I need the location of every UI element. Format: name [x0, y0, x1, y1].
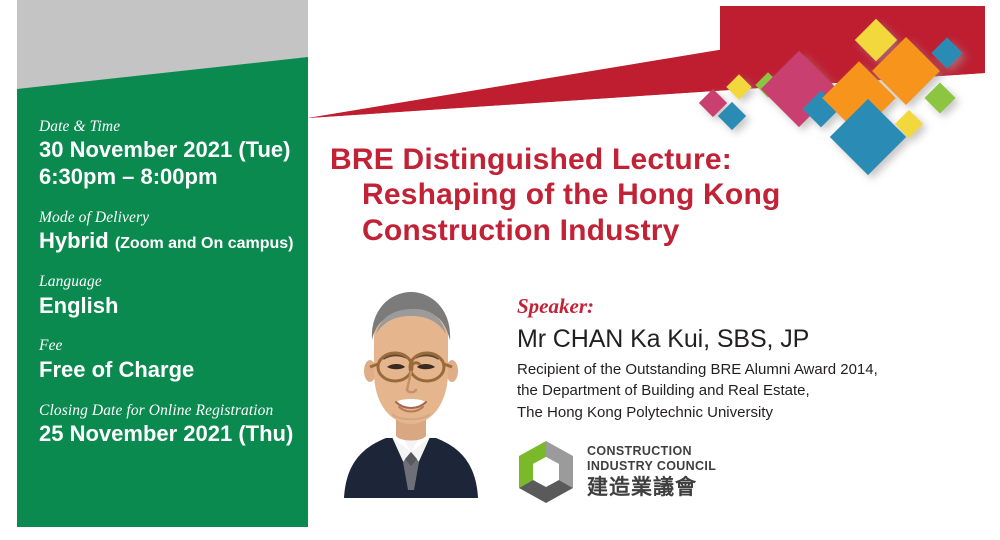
red-banner-slope: [308, 6, 985, 118]
event-poster: Date & Time 30 November 2021 (Tue) 6:30p…: [0, 0, 1000, 540]
title-line-2: Reshaping of the Hong Kong: [330, 177, 930, 212]
diamond-green-right: [924, 82, 955, 113]
diamond-yellow-bottom: [895, 110, 923, 138]
diamond-yellow-small-left: [726, 74, 751, 99]
cic-wordmark: CONSTRUCTION INDUSTRY COUNCIL 建造業議會: [587, 444, 716, 500]
field-value: Hybrid (Zoom and On campus): [39, 228, 308, 255]
diamond-magenta-large: [761, 51, 837, 127]
affiliation-line-3: The Hong Kong Polytechnic University: [517, 402, 937, 423]
diamond-magenta-small: [699, 89, 727, 117]
red-banner-upper: [720, 6, 985, 73]
field-label: Mode of Delivery: [39, 208, 308, 227]
diamond-green-small-left: [755, 72, 780, 97]
field-value-line1: Hybrid: [39, 228, 109, 253]
cic-cube-mark-icon: [515, 440, 577, 504]
cic-line-2: INDUSTRY COUNCIL: [587, 459, 716, 474]
field-value: 30 November 2021 (Tue) 6:30pm – 8:00pm: [39, 137, 308, 191]
diamond-orange-right: [872, 37, 940, 105]
title-line-1: BRE Distinguished Lecture:: [330, 143, 732, 176]
detail-field-closing-date: Closing Date for Online Registration 25 …: [39, 401, 308, 448]
detail-field-fee: Fee Free of Charge: [39, 336, 308, 383]
field-value: Free of Charge: [39, 357, 308, 384]
speaker-portrait-photo: [322, 274, 500, 498]
diamond-blue-small-left: [718, 102, 746, 130]
title-block: BRE Distinguished Lecture: Reshaping of …: [330, 142, 930, 248]
field-label: Date & Time: [39, 117, 308, 136]
speaker-block: Speaker: Mr CHAN Ka Kui, SBS, JP Recipie…: [517, 294, 937, 423]
speaker-name: Mr CHAN Ka Kui, SBS, JP: [517, 325, 937, 354]
speaker-affiliation: Recipient of the Outstanding BRE Alumni …: [517, 359, 937, 423]
diamond-orange-center: [822, 61, 896, 135]
diamond-yellow-top: [855, 19, 897, 61]
field-label: Closing Date for Online Registration: [39, 401, 308, 420]
cic-line-1: CONSTRUCTION: [587, 444, 716, 459]
diamond-blue-mid: [803, 91, 840, 128]
affiliation-line-1: Recipient of the Outstanding BRE Alumni …: [517, 359, 937, 380]
diamond-blue-right-small: [931, 37, 962, 68]
speaker-portrait-illustration: [322, 274, 500, 498]
field-label: Language: [39, 272, 308, 291]
field-value: 25 November 2021 (Thu): [39, 421, 308, 448]
speaker-label: Speaker:: [517, 294, 937, 319]
field-label: Fee: [39, 336, 308, 355]
page-title: BRE Distinguished Lecture: Reshaping of …: [330, 142, 930, 248]
event-details-panel: Date & Time 30 November 2021 (Tue) 6:30p…: [17, 57, 308, 527]
detail-field-mode-of-delivery: Mode of Delivery Hybrid (Zoom and On cam…: [39, 208, 308, 255]
affiliation-line-2: the Department of Building and Real Esta…: [517, 380, 937, 401]
detail-field-language: Language English: [39, 272, 308, 319]
title-line-3: Construction Industry: [330, 213, 930, 248]
cic-logo: CONSTRUCTION INDUSTRY COUNCIL 建造業議會: [515, 440, 716, 504]
cic-chinese-name: 建造業議會: [587, 476, 716, 500]
cube-inner-bar: [542, 460, 550, 484]
detail-field-date-time: Date & Time 30 November 2021 (Tue) 6:30p…: [39, 117, 308, 191]
field-value-line1: 30 November 2021 (Tue): [39, 137, 290, 162]
red-banner-shape: [308, 6, 985, 118]
field-value-line2: 6:30pm – 8:00pm: [39, 164, 308, 191]
field-value-note: (Zoom and On campus): [115, 235, 294, 252]
field-value: English: [39, 293, 308, 320]
